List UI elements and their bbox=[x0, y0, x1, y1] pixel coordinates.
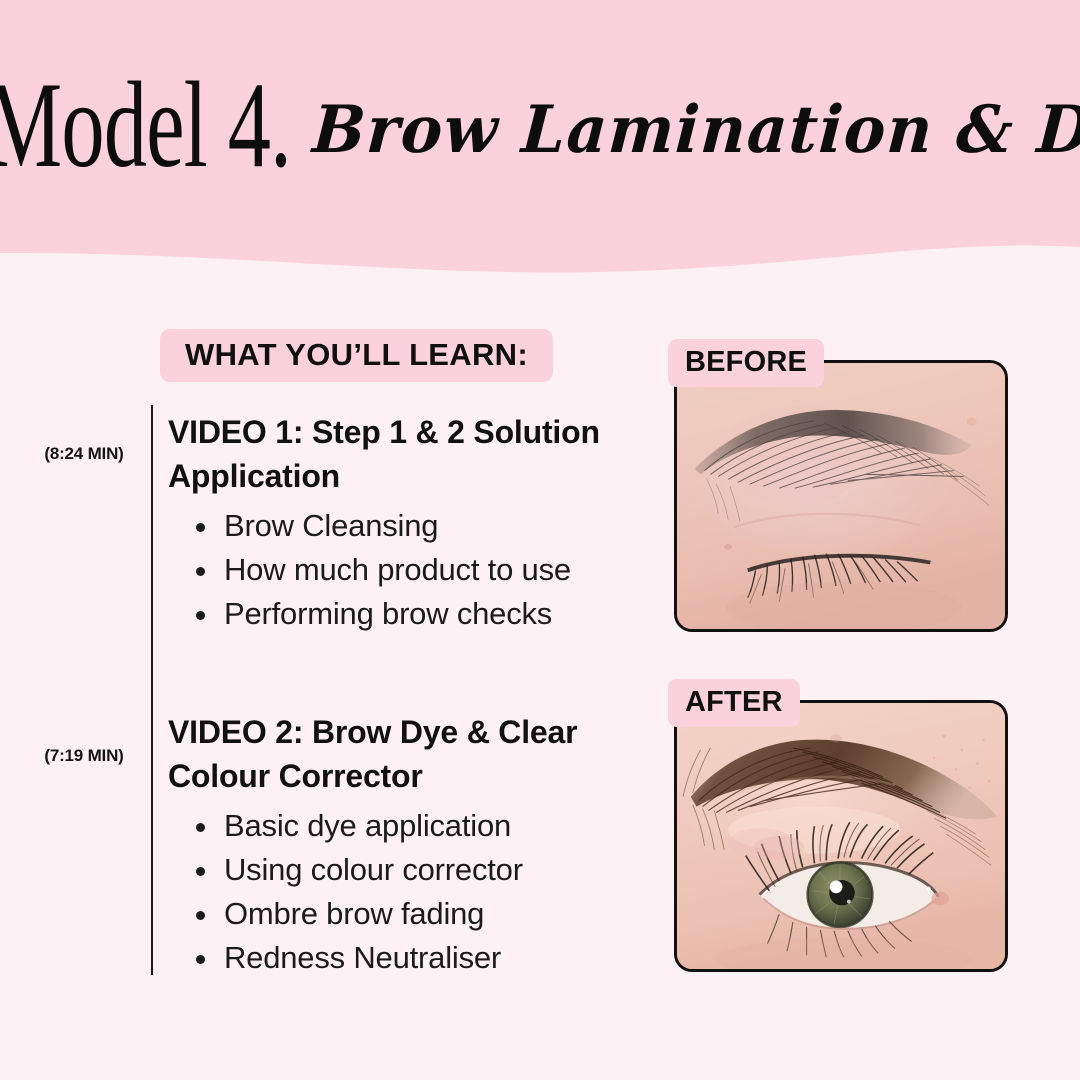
video-2-block: VIDEO 2: Brow Dye & Clear Colour Correct… bbox=[168, 711, 658, 980]
list-item: Using colour corrector bbox=[168, 848, 658, 892]
list-item-label: How much product to use bbox=[224, 552, 571, 587]
video-1-heading: VIDEO 1: Step 1 & 2 Solution Application bbox=[168, 411, 658, 498]
title-service-name: Brow Lamination & Dye bbox=[311, 97, 1080, 162]
before-badge-label: BEFORE bbox=[685, 348, 807, 377]
bullet-dot-icon bbox=[196, 567, 205, 576]
list-item: Redness Neutraliser bbox=[168, 936, 658, 980]
what-youll-learn-badge: WHAT YOU’LL LEARN: bbox=[160, 329, 553, 382]
before-badge: BEFORE bbox=[668, 339, 824, 387]
what-youll-learn-label: WHAT YOU’LL LEARN: bbox=[185, 339, 528, 370]
video-2-heading: VIDEO 2: Brow Dye & Clear Colour Correct… bbox=[168, 711, 658, 798]
bullet-dot-icon bbox=[196, 611, 205, 620]
before-photo bbox=[674, 360, 1008, 632]
bullet-dot-icon bbox=[196, 955, 205, 964]
list-item: How much product to use bbox=[168, 548, 658, 592]
title-model-number: Model 4. bbox=[0, 64, 291, 187]
video-1-bullet-list: Brow Cleansing How much product to use P… bbox=[168, 504, 658, 636]
after-badge-label: AFTER bbox=[685, 688, 783, 717]
after-photo bbox=[674, 700, 1008, 972]
list-item: Performing brow checks bbox=[168, 592, 658, 636]
video-2-duration: (7:19 MIN) bbox=[24, 746, 144, 766]
after-badge: AFTER bbox=[668, 679, 800, 727]
list-item: Ombre brow fading bbox=[168, 892, 658, 936]
bullet-dot-icon bbox=[196, 523, 205, 532]
bullet-dot-icon bbox=[196, 867, 205, 876]
bullet-dot-icon bbox=[196, 823, 205, 832]
list-item: Basic dye application bbox=[168, 804, 658, 848]
list-item-label: Ombre brow fading bbox=[224, 896, 484, 931]
video-2-bullet-list: Basic dye application Using colour corre… bbox=[168, 804, 658, 980]
list-item-label: Basic dye application bbox=[224, 808, 511, 843]
vertical-divider bbox=[151, 405, 153, 975]
page-title: Model 4. Brow Lamination & Dye bbox=[0, 0, 1080, 252]
list-item-label: Brow Cleansing bbox=[224, 508, 438, 543]
bullet-dot-icon bbox=[196, 911, 205, 920]
before-photo-image bbox=[677, 363, 1005, 629]
after-photo-image bbox=[677, 703, 1005, 969]
video-1-block: VIDEO 1: Step 1 & 2 Solution Application… bbox=[168, 411, 658, 636]
video-1-duration: (8:24 MIN) bbox=[24, 444, 144, 464]
list-item-label: Redness Neutraliser bbox=[224, 940, 501, 975]
list-item-label: Performing brow checks bbox=[224, 596, 552, 631]
header-band: Model 4. Brow Lamination & Dye bbox=[0, 0, 1080, 280]
list-item-label: Using colour corrector bbox=[224, 852, 523, 887]
list-item: Brow Cleansing bbox=[168, 504, 658, 548]
